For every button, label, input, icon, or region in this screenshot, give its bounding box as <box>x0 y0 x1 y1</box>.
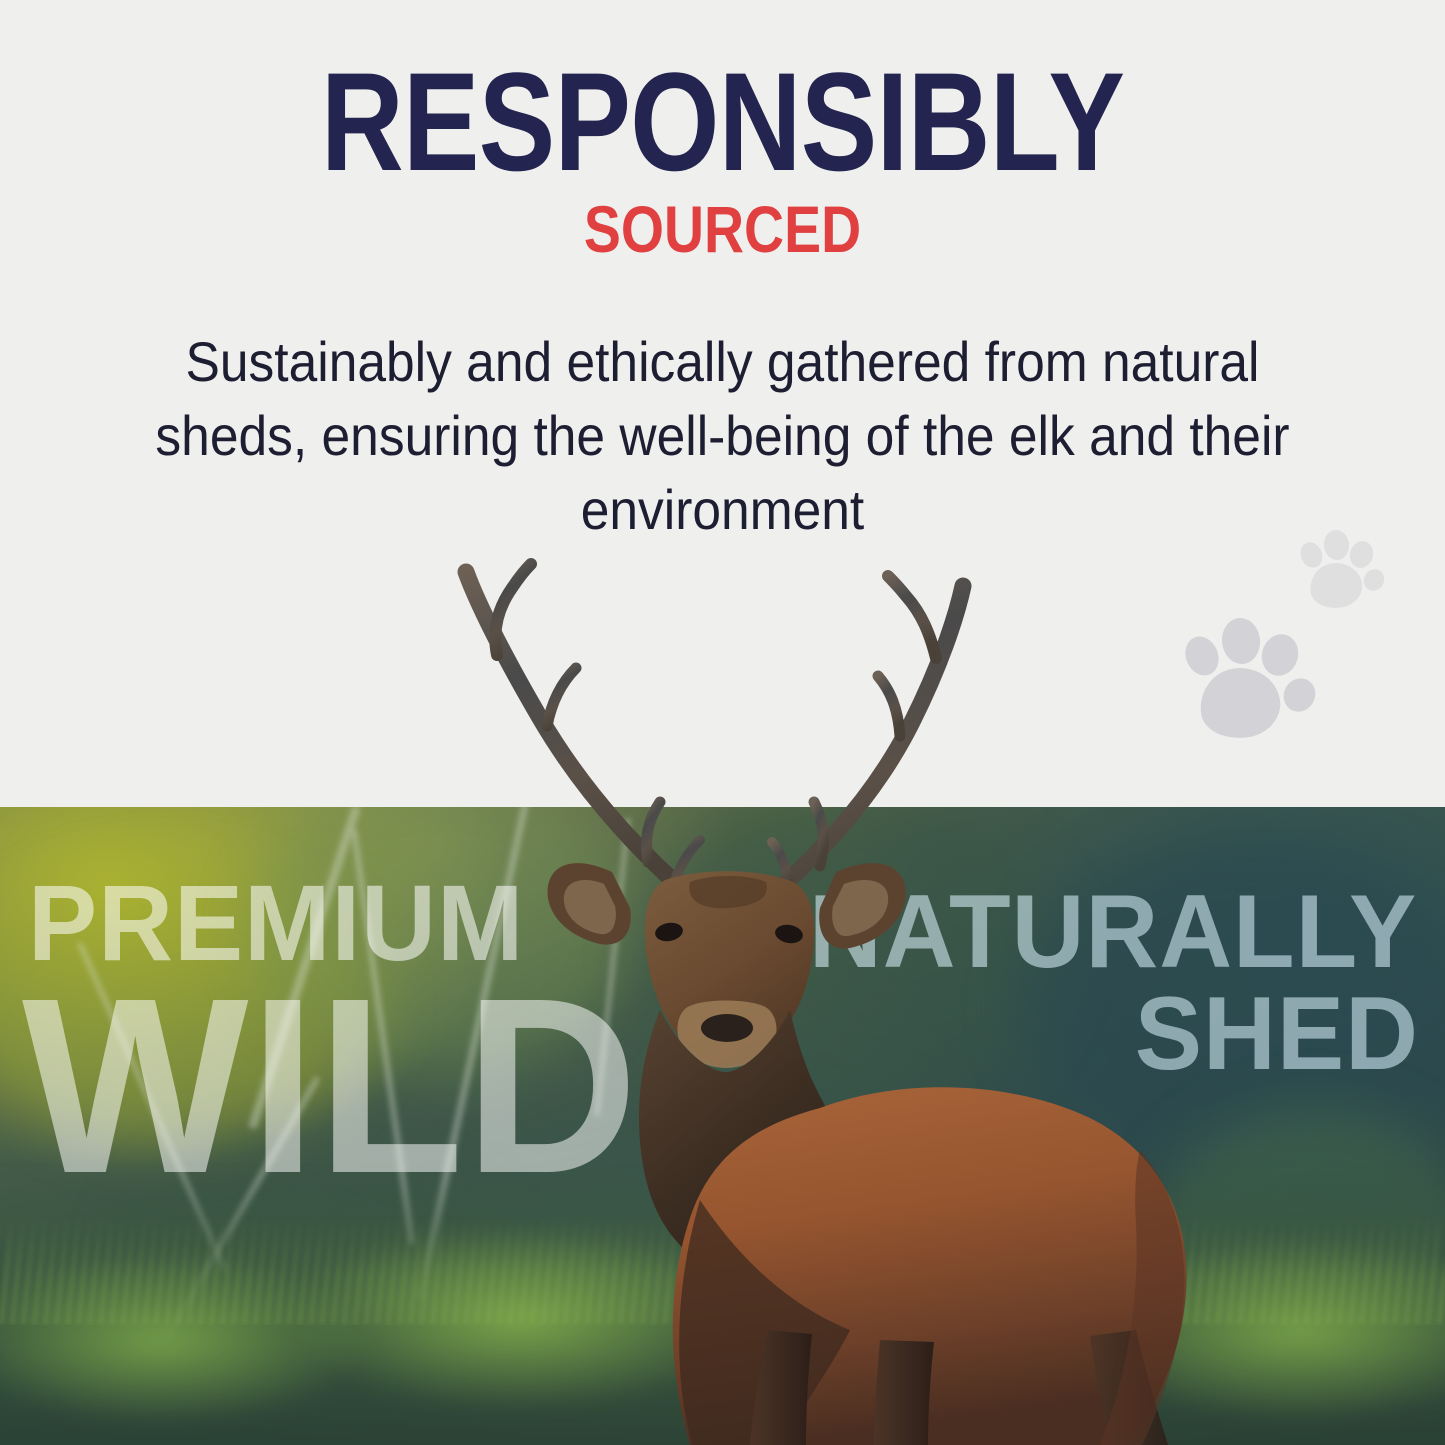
overlay-text-shed: SHED <box>1135 990 1419 1079</box>
description-text: Sustainably and ethically gathered from … <box>141 325 1305 547</box>
paw-print-icon <box>1186 612 1311 737</box>
paw-pad <box>1307 560 1365 612</box>
marketing-poster: RESPONSIBLY SOURCED Sustainably and ethi… <box>0 0 1445 1445</box>
paw-toe <box>1220 616 1263 666</box>
paw-toe <box>1257 630 1303 680</box>
overlay-text-naturally: NATURALLY <box>809 888 1417 977</box>
grass-tips <box>0 1215 1445 1325</box>
overlay-text-wild: WILD <box>22 978 639 1193</box>
paw-toe <box>1323 529 1351 561</box>
paw-print-icon <box>1301 527 1381 607</box>
page-subtitle: SOURCED <box>116 196 1330 262</box>
paw-toe <box>1347 538 1377 570</box>
page-title: RESPONSIBLY <box>130 52 1315 192</box>
paw-pad <box>1196 663 1285 743</box>
